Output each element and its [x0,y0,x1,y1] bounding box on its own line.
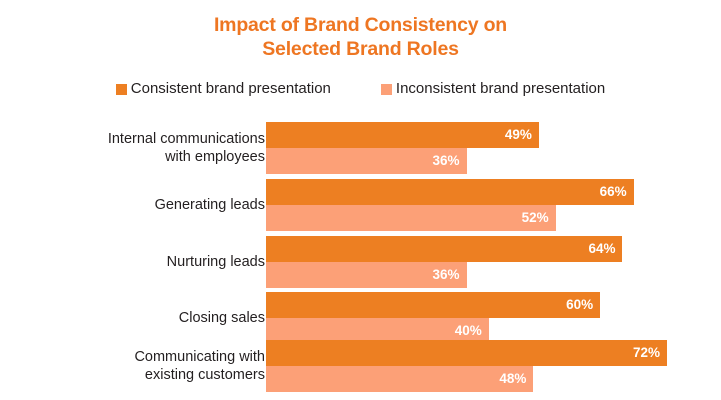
bar-inconsistent[interactable]: 48% [266,366,533,392]
category-label-line: Communicating with [20,348,265,366]
category-label-line: existing customers [20,366,265,384]
bar-group: Internal communicationswith employees49%… [0,122,721,174]
chart-title-line-1: Impact of Brand Consistency on [0,13,721,37]
bar-group: Nurturing leads64%36% [0,236,721,288]
category-label: Communicating withexisting customers [20,348,265,384]
legend-label-inconsistent: Inconsistent brand presentation [396,81,605,97]
bar-consistent[interactable]: 49% [266,122,539,148]
legend-item-inconsistent[interactable]: Inconsistent brand presentation [381,81,605,97]
chart-title: Impact of Brand Consistency on Selected … [0,13,721,61]
bar-inconsistent[interactable]: 36% [266,262,467,288]
bars: 60%40% [266,292,721,344]
chart-legend: Consistent brand presentation Inconsiste… [0,81,721,97]
bars: 49%36% [266,122,721,174]
bars: 66%52% [266,179,721,231]
bar-group: Communicating withexisting customers72%4… [0,340,721,392]
category-label-line: Closing sales [20,309,265,327]
category-label-line: Internal communications [20,130,265,148]
legend-label-consistent: Consistent brand presentation [131,81,331,97]
bar-inconsistent[interactable]: 36% [266,148,467,174]
bar-consistent[interactable]: 60% [266,292,600,318]
legend-swatch-inconsistent [381,84,392,95]
category-label: Nurturing leads [20,253,265,271]
chart-container: Impact of Brand Consistency on Selected … [0,0,721,400]
plot-area: Internal communicationswith employees49%… [0,114,721,400]
bar-consistent[interactable]: 66% [266,179,634,205]
bar-value-label: 48% [499,372,526,386]
bar-consistent[interactable]: 64% [266,236,622,262]
legend-item-consistent[interactable]: Consistent brand presentation [116,81,331,97]
bar-value-label: 49% [505,128,532,142]
category-label-line: Nurturing leads [20,253,265,271]
bar-value-label: 64% [588,242,615,256]
bar-group: Generating leads66%52% [0,179,721,231]
bars: 72%48% [266,340,721,392]
bar-value-label: 40% [455,324,482,338]
bar-value-label: 60% [566,298,593,312]
bar-inconsistent[interactable]: 52% [266,205,556,231]
bar-value-label: 66% [600,185,627,199]
bar-value-label: 52% [522,211,549,225]
category-label-line: Generating leads [20,196,265,214]
bar-consistent[interactable]: 72% [266,340,667,366]
chart-title-line-2: Selected Brand Roles [0,37,721,61]
bars: 64%36% [266,236,721,288]
legend-swatch-consistent [116,84,127,95]
category-label: Closing sales [20,309,265,327]
bar-value-label: 36% [432,154,459,168]
category-label: Generating leads [20,196,265,214]
category-label-line: with employees [20,148,265,166]
category-label: Internal communicationswith employees [20,130,265,166]
bar-value-label: 36% [432,268,459,282]
bar-group: Closing sales60%40% [0,292,721,344]
bar-value-label: 72% [633,346,660,360]
